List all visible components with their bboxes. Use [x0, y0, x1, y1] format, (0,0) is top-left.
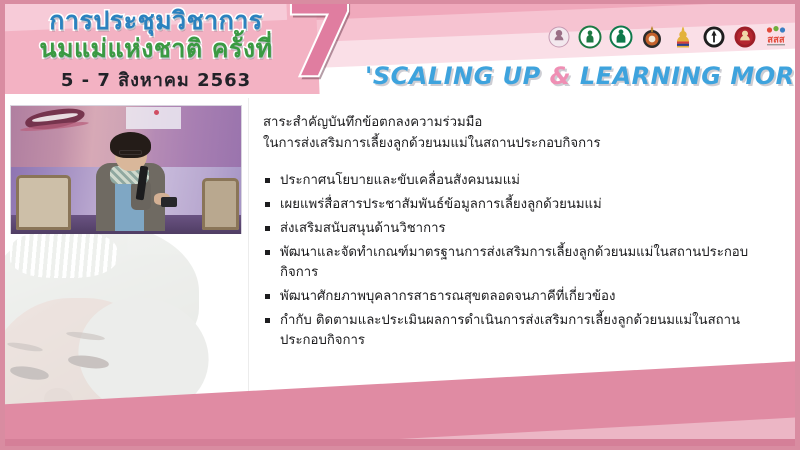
- lead-paragraph-line-2: ในการส่งเสริมการเลี้ยงลูกด้วยนมแม่ในสถาน…: [263, 133, 779, 154]
- slide-content: สาระสำคัญบันทึกข้อตกลงความร่วมมือ ในการส…: [263, 112, 779, 355]
- child-hat-stripes: [10, 234, 117, 278]
- stage-chair-right: [202, 178, 239, 230]
- thai-pediatric-logo: [639, 24, 665, 50]
- slide-canvas: 7 การประชุมวิชาการ นมแม่แห่งชาติ ครั้งที…: [0, 0, 800, 450]
- list-item: ส่งเสริมสนับสนุนด้านวิชาการ: [263, 219, 779, 239]
- conference-title-line-1: การประชุมวิชาการ: [21, 7, 291, 34]
- slide-header-banner: 7 การประชุมวิชาการ นมแม่แห่งชาติ ครั้งที…: [5, 4, 795, 94]
- tagline-suffix: LEARNING MORE': [571, 62, 795, 90]
- svg-text:สสส: สสส: [767, 35, 785, 46]
- royal-emblem-logo: [670, 24, 696, 50]
- royal-patronage-logo: [546, 24, 572, 50]
- conference-date: 5 - 7 สิงหาคม 2563: [21, 65, 291, 94]
- lead-paragraph-line-1: สาระสำคัญบันทึกข้อตกลงความร่วมมือ: [263, 112, 779, 133]
- bottom-pink-strip: [5, 439, 795, 446]
- tagline-ampersand: &: [550, 62, 571, 90]
- stage-chair-left: [16, 175, 71, 230]
- list-item: พัฒนาศักยภาพบุคลากรสาธารณสุขตลอดจนภาคีที…: [263, 287, 779, 307]
- conference-tagline: 'SCALING UP & LEARNING MORE': [365, 62, 795, 90]
- speaker-held-device: [161, 197, 177, 207]
- list-item: ประกาศนโยบายและขับเคลื่อนสังคมนมแม่: [263, 171, 779, 191]
- list-item: เผยแพร่สื่อสารประชาสัมพันธ์ข้อมูลการเลี้…: [263, 195, 779, 215]
- ministry-public-health-logo: [577, 24, 603, 50]
- department-health-logo: [608, 24, 634, 50]
- thaihealth-sss-logo: สสส: [763, 24, 789, 50]
- list-item: พัฒนาและจัดทำเกณฑ์มาตรฐานการส่งเสริมการเ…: [263, 243, 779, 283]
- speaker-glasses: [119, 150, 142, 155]
- slide-inner-frame: 7 การประชุมวิชาการ นมแม่แห่งชาติ ครั้งที…: [5, 4, 795, 446]
- sponsor-logo-strip: สสส: [546, 24, 789, 50]
- bullet-list: ประกาศนโยบายและขับเคลื่อนสังคมนมแม่ เผยแ…: [263, 171, 779, 352]
- poster-red-accent: [154, 110, 159, 115]
- medical-council-logo: [732, 24, 758, 50]
- speaker-video-still[interactable]: [10, 105, 242, 237]
- conference-title-line-2: นมแม่แห่งชาติ ครั้งที่: [21, 35, 291, 62]
- column-divider: [248, 98, 249, 398]
- list-item: กำกับ ติดตามและประเมินผลการดำเนินการส่งเ…: [263, 311, 779, 351]
- nursing-council-logo: [701, 24, 727, 50]
- conference-title-block: การประชุมวิชาการ นมแม่แห่งชาติ ครั้งที่ …: [21, 7, 291, 94]
- slide-body: สาระสำคัญบันทึกข้อตกลงความร่วมมือ ในการส…: [5, 94, 795, 446]
- edition-number: 7: [284, 4, 354, 92]
- tagline-prefix: 'SCALING UP: [365, 62, 550, 90]
